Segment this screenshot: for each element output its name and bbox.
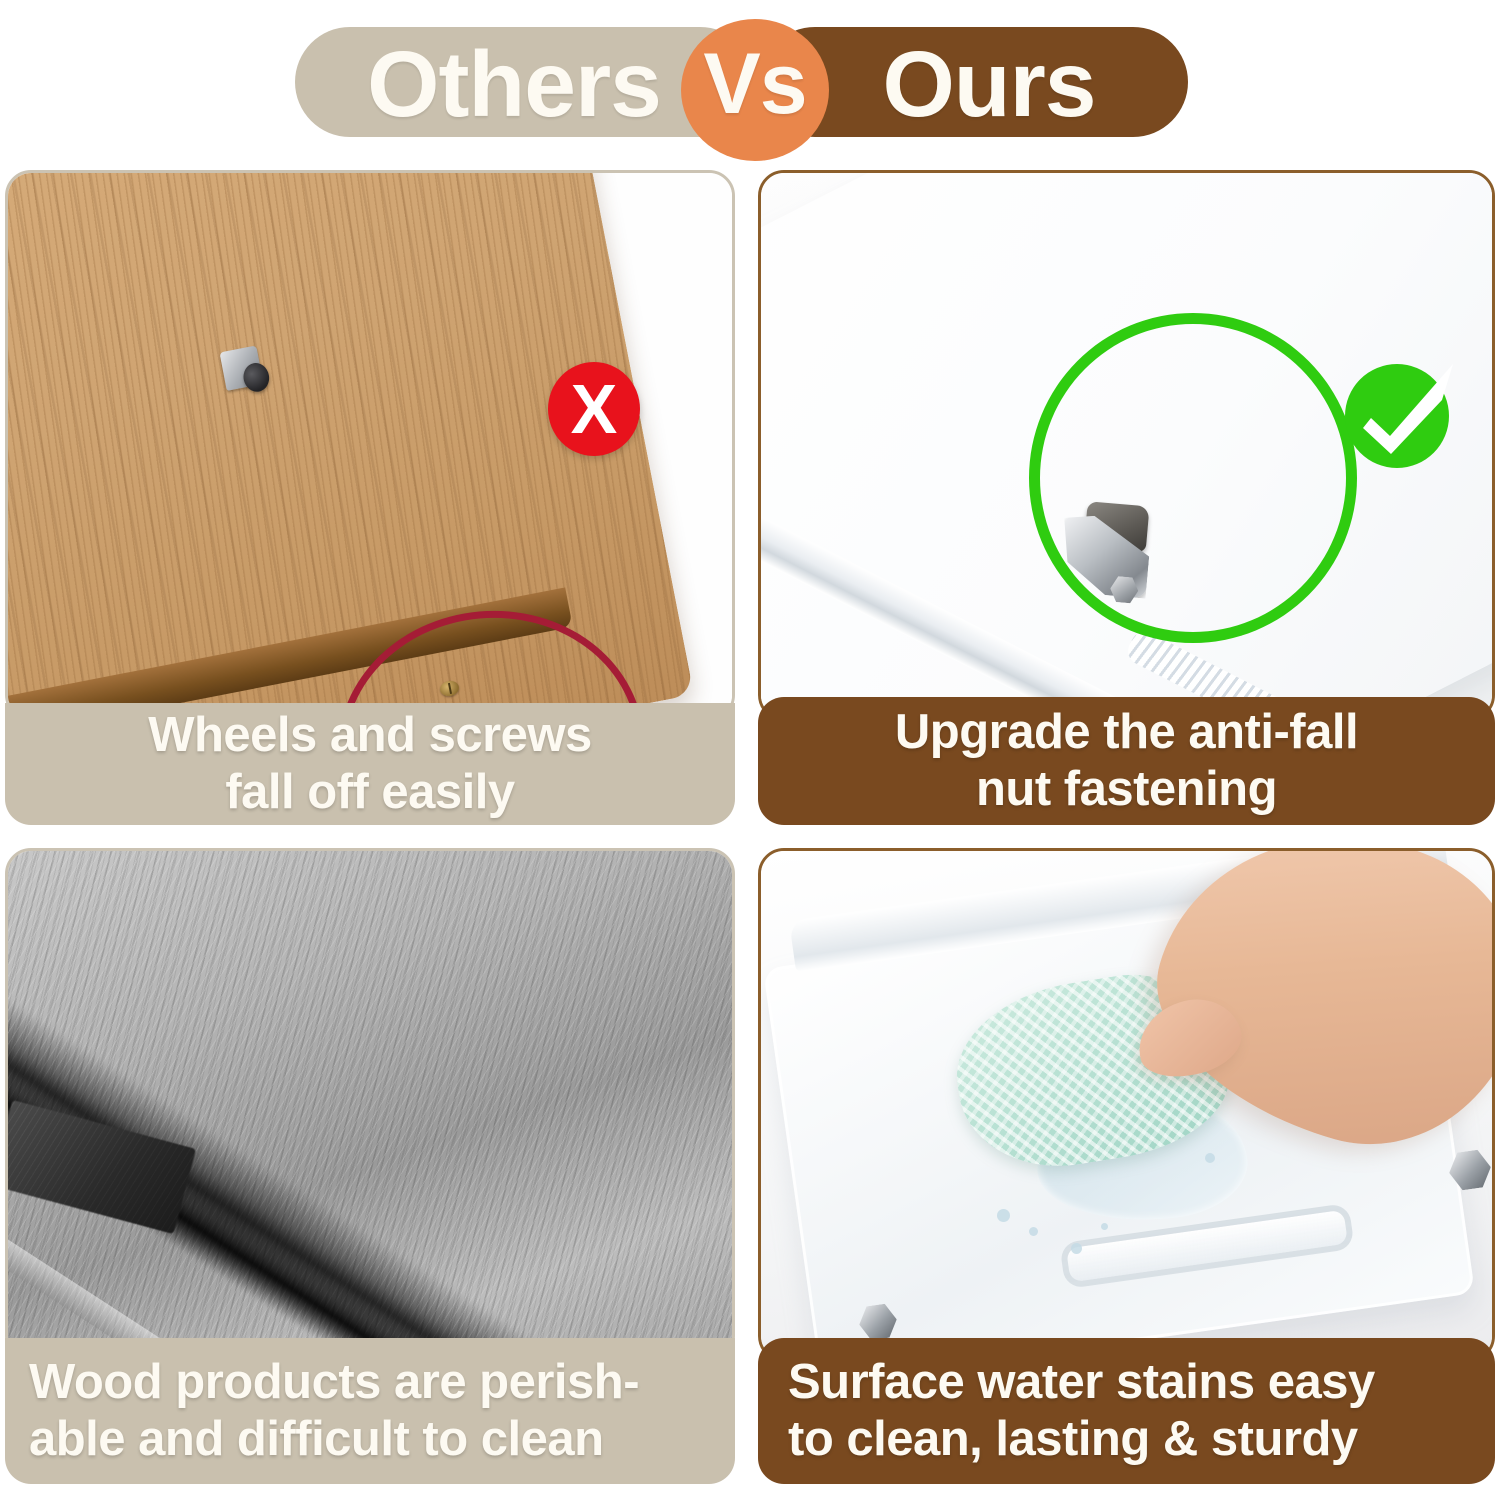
green-highlight-circle bbox=[1029, 313, 1357, 643]
caption-line-1: Upgrade the anti-fall bbox=[786, 704, 1467, 761]
caption-line-2: nut fastening bbox=[786, 761, 1467, 818]
panel-others-perishable: Wood products are perish- able and diffi… bbox=[5, 848, 735, 1484]
nut-icon bbox=[1447, 1148, 1494, 1191]
panel-ours-easy-clean: Surface water stains easy to clean, last… bbox=[758, 848, 1495, 1484]
wood-grain-overlay bbox=[8, 851, 732, 1359]
check-icon bbox=[1341, 352, 1463, 474]
panel-others-wheels: Wheels and screws fall off easily bbox=[5, 170, 735, 825]
comparison-infographic: Others Vs Ours Wheels and screws fall of… bbox=[0, 0, 1500, 1489]
panel-ours-nut-fastening: Upgrade the anti-fall nut fastening bbox=[758, 170, 1495, 825]
red-x-badge: X bbox=[548, 362, 640, 456]
caption-others-perishable: Wood products are perish- able and diffi… bbox=[5, 1338, 735, 1484]
caption-line-1: Wood products are perish- bbox=[29, 1354, 711, 1411]
water-droplet bbox=[997, 1209, 1010, 1222]
green-check-badge bbox=[1341, 352, 1463, 474]
photo-wood-board-caster bbox=[5, 170, 735, 721]
water-droplet bbox=[1029, 1227, 1038, 1236]
water-droplet bbox=[1071, 1243, 1082, 1254]
header-banner: Others Vs Ours bbox=[0, 0, 1500, 168]
caption-line-1: Wheels and screws bbox=[33, 707, 707, 764]
x-icon: X bbox=[571, 374, 618, 444]
caption-line-2: able and difficult to clean bbox=[29, 1411, 711, 1468]
caption-ours-nut-fastening: Upgrade the anti-fall nut fastening bbox=[758, 697, 1495, 825]
caption-line-2: to clean, lasting & sturdy bbox=[788, 1411, 1465, 1468]
caption-line-2: fall off easily bbox=[33, 764, 707, 821]
caption-ours-easy-clean: Surface water stains easy to clean, last… bbox=[758, 1338, 1495, 1484]
water-droplet bbox=[1205, 1153, 1215, 1163]
header-ours-label: Ours bbox=[760, 0, 1188, 168]
photo-weathered-wood bbox=[5, 848, 735, 1362]
caption-line-1: Surface water stains easy bbox=[788, 1354, 1465, 1411]
caster-wheel-icon bbox=[219, 344, 274, 404]
caption-others-wheels: Wheels and screws fall off easily bbox=[5, 703, 735, 825]
photo-hand-wiping-tray bbox=[758, 848, 1495, 1362]
water-droplet bbox=[1101, 1223, 1108, 1230]
nut-icon bbox=[857, 1302, 899, 1341]
